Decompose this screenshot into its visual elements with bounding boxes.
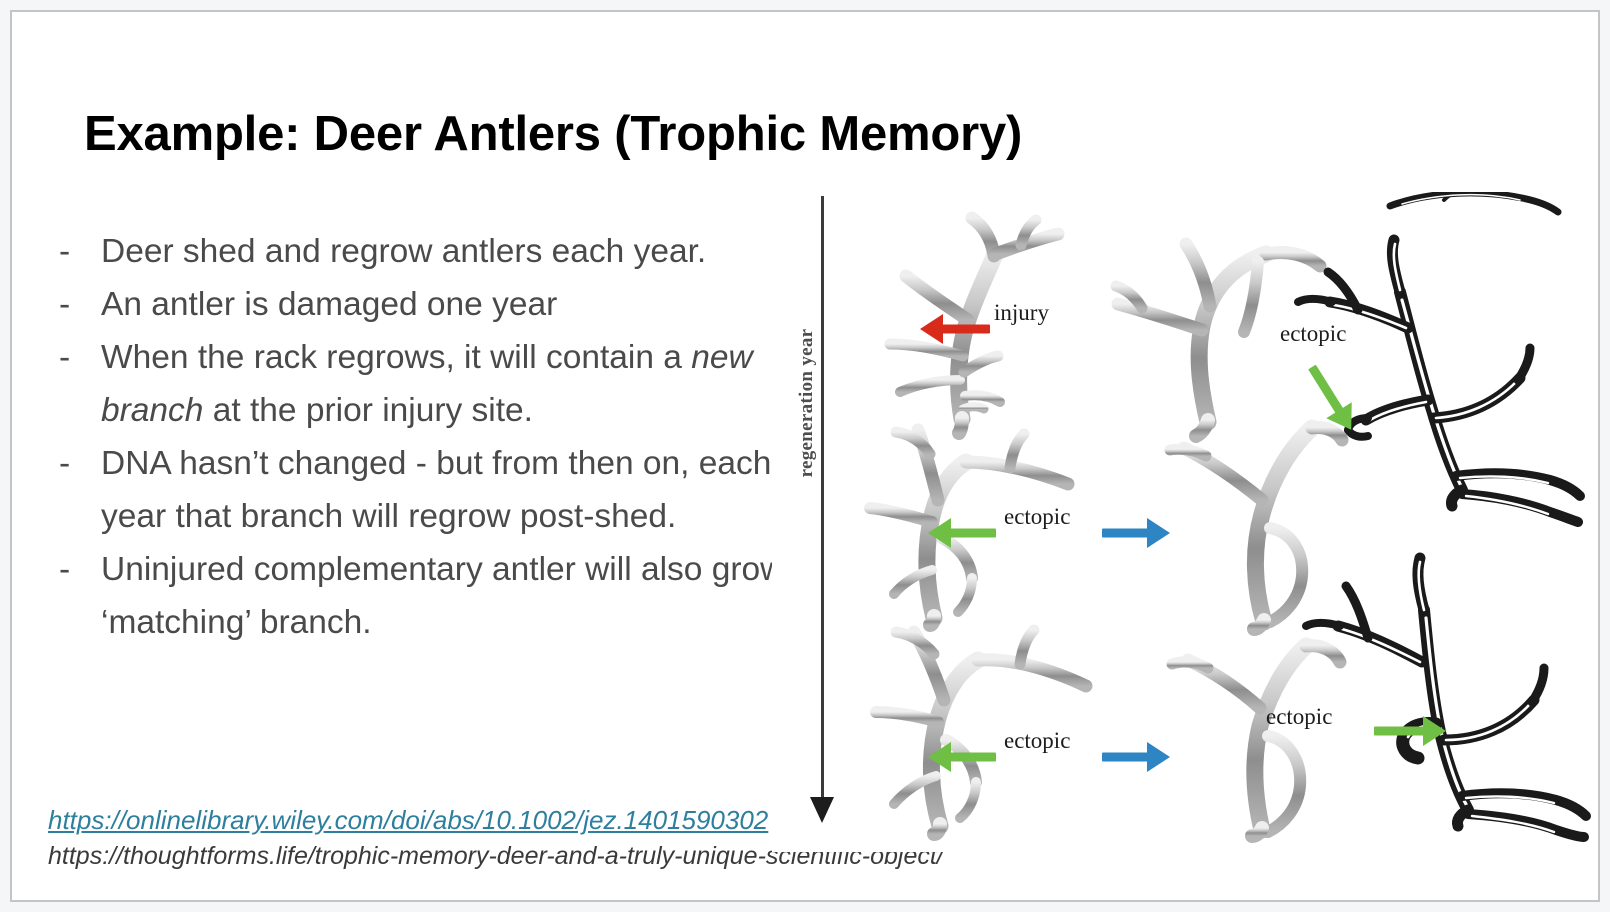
bullet-dash: - [46,543,101,596]
bullet-text: When the rack regrows, it will contain a… [101,331,816,437]
figure-label-ectopic-r3: ectopic [1004,728,1070,754]
bullet-dash: - [46,278,101,331]
bullet-dash: - [46,331,101,384]
ectopic-arrow-green-r3-icon [928,742,996,772]
injury-arrow-icon [920,314,990,344]
axis-arrowhead-icon [810,797,834,823]
figure-label-ectopic-right-top: ectopic [1280,321,1346,347]
bullet-dash: - [46,437,101,490]
page-title: Example: Deer Antlers (Trophic Memory) [84,108,1144,162]
list-item: - Uninjured complementary antler will al… [46,543,816,649]
list-item: - DNA hasn’t changed - but from then on,… [46,437,816,543]
figure-label-ectopic-r2: ectopic [1004,504,1070,530]
axis-label-regeneration-year: regeneration year [796,323,818,483]
bullet-text-after: at the prior injury site. [203,392,533,429]
figure-label-ectopic-right-bottom: ectopic [1266,704,1332,730]
ectopic-arrow-green-right-bottom-icon [1374,716,1446,746]
bullet-text: Uninjured complementary antler will also… [101,543,816,649]
antler-ink-bottom [1272,552,1600,837]
list-item: - When the rack regrows, it will contain… [46,331,816,437]
ectopic-arrow-green-r2-icon [928,518,996,548]
antler-top-crop [1382,192,1562,222]
bullet-text: DNA hasn’t changed - but from then on, e… [101,437,816,543]
list-item: - Deer shed and regrow antlers each year… [46,225,816,278]
bullet-list: - Deer shed and regrow antlers each year… [46,225,816,649]
bullet-text: An antler is damaged one year [101,278,816,331]
slide-canvas: Example: Deer Antlers (Trophic Memory) -… [10,10,1600,902]
bullet-dash: - [46,225,101,278]
figure-label-injury: injury [994,300,1049,326]
ectopic-arrow-blue-r2-icon [1102,518,1170,548]
ectopic-arrow-blue-r3-icon [1102,742,1170,772]
antler-figure: regeneration year [772,192,1600,852]
source-link-wiley[interactable]: https://onlinelibrary.wiley.com/doi/abs/… [48,802,768,838]
bullet-text: Deer shed and regrow antlers each year. [101,225,816,278]
list-item: - An antler is damaged one year [46,278,816,331]
regeneration-year-axis [821,196,824,804]
bullet-text-before: When the rack regrows, it will contain a [101,339,691,376]
antler-gray-r3-left [848,614,1098,834]
figure-background: regeneration year [772,192,1600,852]
